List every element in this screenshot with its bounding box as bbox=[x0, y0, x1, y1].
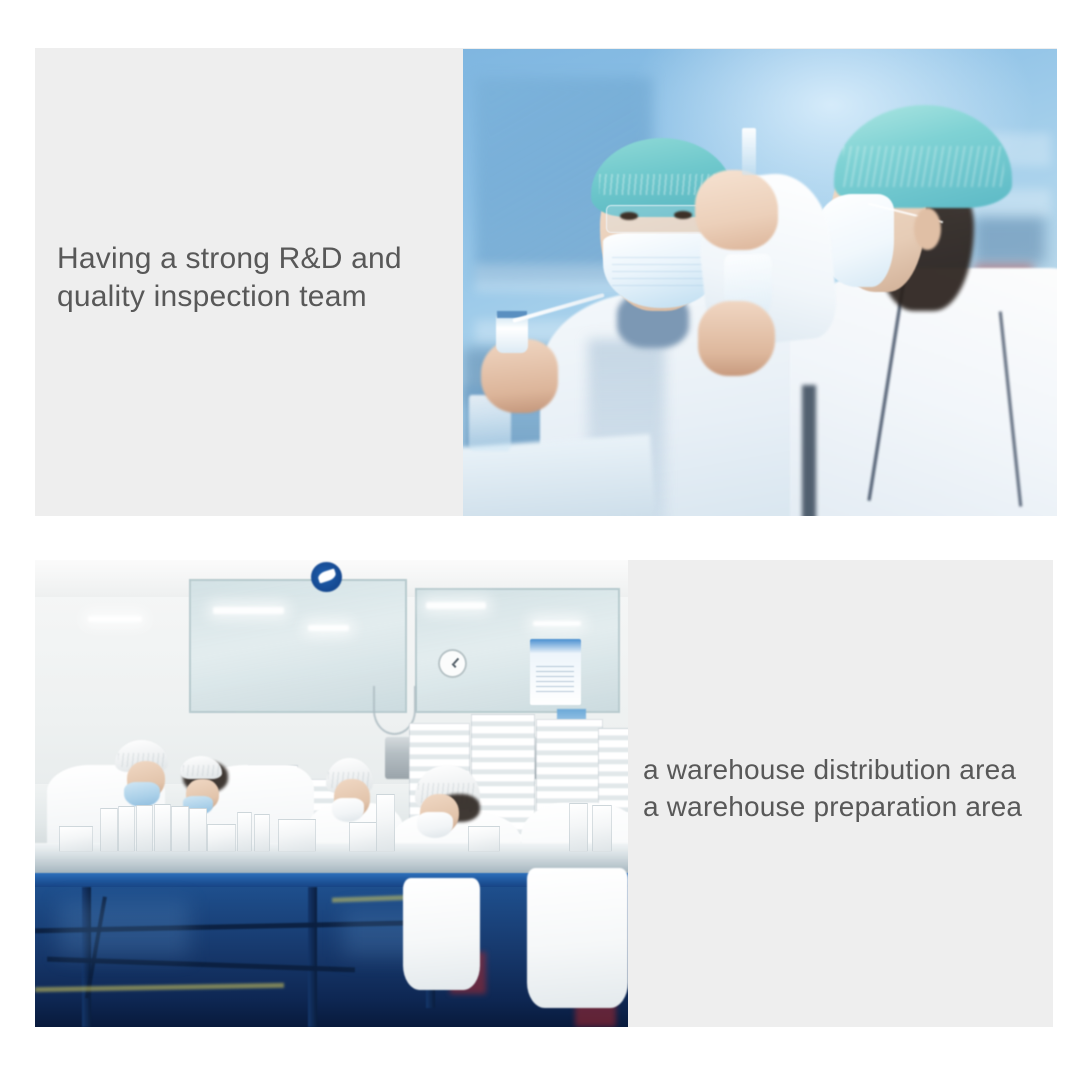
warehouse-packing-photo bbox=[35, 560, 628, 1027]
carton-7 bbox=[237, 812, 253, 851]
hand-holding-vial bbox=[695, 170, 778, 249]
worker-5-coat-hem-shape bbox=[527, 868, 628, 1008]
sample-vial-upper bbox=[742, 128, 756, 175]
carton-5 bbox=[171, 806, 188, 852]
caption-warehouse-areas: a warehouse distribution area a warehous… bbox=[643, 752, 1053, 826]
carton-9 bbox=[569, 803, 589, 852]
carton-1 bbox=[100, 808, 117, 852]
worker-right-ear bbox=[914, 208, 941, 250]
carton-flat-3 bbox=[278, 819, 316, 851]
carton-flat-5 bbox=[468, 826, 500, 851]
carton-6 bbox=[189, 808, 206, 852]
page-root: Having a strong R&D and quality inspecti… bbox=[0, 0, 1080, 1080]
caption-rnd-quality: Having a strong R&D and quality inspecti… bbox=[57, 240, 457, 317]
worker-right-hairnet bbox=[834, 105, 1012, 208]
lab-equipment-dark bbox=[974, 217, 1045, 264]
worker-4-face-mask bbox=[417, 812, 453, 838]
carton-flat-2 bbox=[207, 824, 236, 852]
lab-inspection-photo bbox=[463, 49, 1057, 516]
table-leg-2 bbox=[308, 887, 317, 1027]
carton-3 bbox=[136, 805, 153, 852]
worker-5-coat-hem bbox=[527, 868, 628, 1008]
carton-4 bbox=[154, 804, 171, 852]
lab-stand-pole bbox=[802, 385, 817, 516]
warehouse-scene-background bbox=[35, 560, 628, 1027]
worker-left-eye-right bbox=[674, 211, 692, 219]
carton-10 bbox=[592, 805, 612, 851]
carton-flat-1 bbox=[59, 826, 94, 851]
worker-4-coat-hem-shape bbox=[403, 878, 480, 990]
carton-2 bbox=[118, 806, 135, 852]
carton-upright-tall bbox=[376, 794, 395, 852]
floor-reflection-1 bbox=[59, 901, 189, 957]
worker-4-coat-hem bbox=[403, 878, 480, 990]
lab-scene-background bbox=[463, 49, 1057, 516]
carton-8 bbox=[254, 814, 270, 851]
hand-lower bbox=[698, 301, 775, 376]
